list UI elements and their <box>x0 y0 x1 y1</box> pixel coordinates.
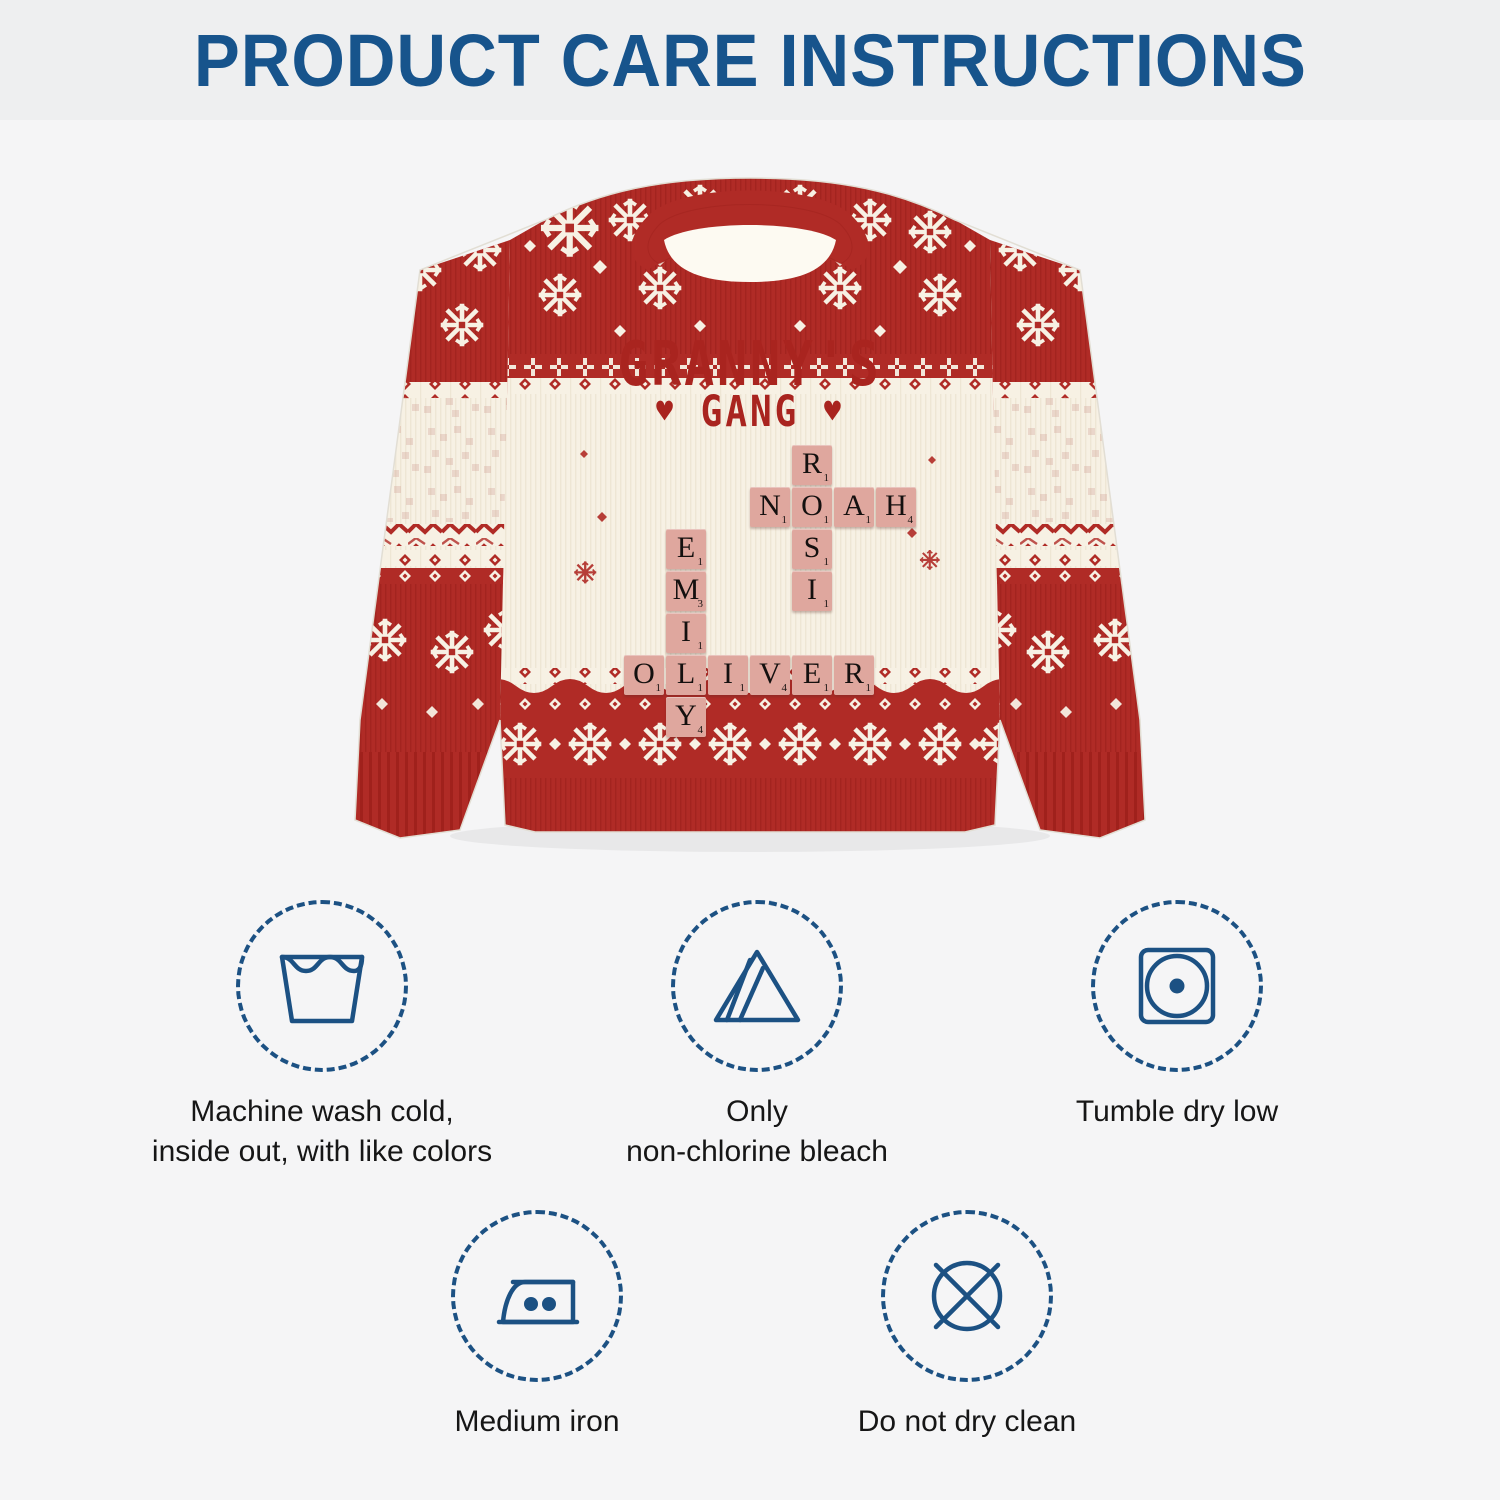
tile-points: 1 <box>824 598 830 610</box>
tile-points: 1 <box>698 556 704 568</box>
scrabble-tile: E1 <box>792 655 832 695</box>
scrabble-tile: V4 <box>750 655 790 695</box>
care-item-label: Do not dry clean <box>767 1402 1167 1442</box>
care-item-label: Tumble dry low <box>977 1092 1377 1132</box>
scrabble-tile: R1 <box>834 655 874 695</box>
tile-points: 1 <box>824 472 830 484</box>
tile-points: 1 <box>740 682 746 694</box>
care-item-label: Medium iron <box>337 1402 737 1442</box>
tile-points: 1 <box>824 514 830 526</box>
scrabble-tile: Y4 <box>666 697 706 737</box>
scrabble-crossword: R1N1O1A1H4E1S1M3I1I1O1L1I1V4E1R1Y4 <box>624 445 914 695</box>
sweater-right-sleeve <box>970 160 1160 880</box>
medium-iron-icon <box>489 1260 585 1332</box>
scrabble-tile: L1 <box>666 655 706 695</box>
tile-points: 1 <box>698 682 704 694</box>
tile-points: 1 <box>698 640 704 652</box>
sweater-left-sleeve <box>340 160 530 880</box>
scrabble-tile: A1 <box>834 487 874 527</box>
care-symbol-badge <box>236 900 408 1072</box>
scrabble-tile: E1 <box>666 529 706 569</box>
tile-points: 4 <box>908 514 914 526</box>
care-symbols-section: Machine wash cold, inside out, with like… <box>0 880 1500 1500</box>
care-symbol-badge <box>671 900 843 1072</box>
care-item-label: Only non-chlorine bleach <box>557 1092 957 1171</box>
care-symbol-badge <box>451 1210 623 1382</box>
scrabble-tile: N1 <box>750 487 790 527</box>
care-item: Medium iron <box>337 1210 737 1442</box>
page-title: PRODUCT CARE INSTRUCTIONS <box>194 18 1307 103</box>
tile-points: 4 <box>782 682 788 694</box>
care-item: Do not dry clean <box>767 1210 1167 1442</box>
tile-points: 1 <box>866 682 872 694</box>
wash-basin-icon <box>274 943 370 1029</box>
care-item: Machine wash cold, inside out, with like… <box>122 900 522 1171</box>
tile-points: 4 <box>698 724 704 736</box>
scrabble-tile: O1 <box>624 655 664 695</box>
tumble-dry-low-icon <box>1134 943 1220 1029</box>
scrabble-tile: H4 <box>876 487 916 527</box>
scrabble-tile: S1 <box>792 529 832 569</box>
bleach-triangle-icon <box>710 944 804 1028</box>
care-item: Only non-chlorine bleach <box>557 900 957 1171</box>
care-item-label: Machine wash cold, inside out, with like… <box>122 1092 522 1171</box>
care-symbol-badge <box>1091 900 1263 1072</box>
tile-points: 1 <box>824 556 830 568</box>
tile-points: 3 <box>698 598 704 610</box>
scrabble-tile: M3 <box>666 571 706 611</box>
care-instructions-page: PRODUCT CARE INSTRUCTIONS <box>0 0 1500 1500</box>
care-symbol-badge <box>881 1210 1053 1382</box>
scrabble-tile: I1 <box>708 655 748 695</box>
scrabble-tile: R1 <box>792 445 832 485</box>
tile-points: 1 <box>866 514 872 526</box>
tile-points: 1 <box>782 514 788 526</box>
page-header: PRODUCT CARE INSTRUCTIONS <box>0 0 1500 120</box>
tile-points: 1 <box>824 682 830 694</box>
scrabble-tile: O1 <box>792 487 832 527</box>
scrabble-tile: I1 <box>792 571 832 611</box>
do-not-dry-clean-icon <box>922 1251 1012 1341</box>
care-item: Tumble dry low <box>977 900 1377 1132</box>
scrabble-tile: I1 <box>666 613 706 653</box>
product-image: GRANNY'S ♥ GANG ♥ R1N1O1A1H4E1S1M3I1I1O1… <box>0 120 1500 880</box>
tile-points: 1 <box>656 682 662 694</box>
